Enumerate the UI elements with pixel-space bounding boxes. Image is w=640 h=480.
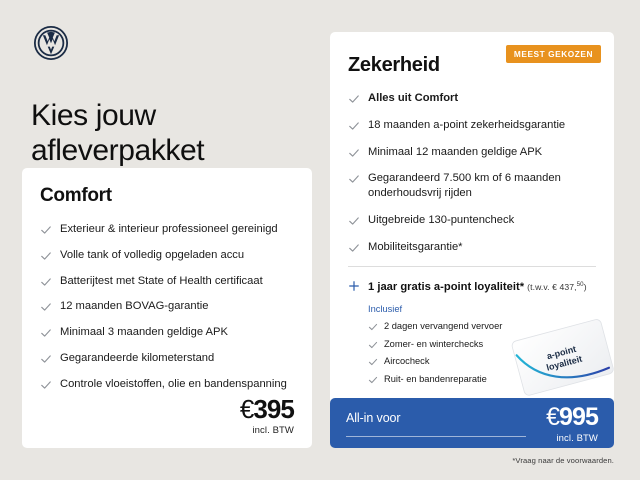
- included-items-list: 2 dagen vervangend vervoer Zomer- en win…: [368, 321, 596, 385]
- list-item: Mobiliteitsgarantie*: [348, 240, 596, 255]
- currency-symbol: €: [240, 394, 253, 424]
- loyalty-title: 1 jaar gratis a-point loyaliteit*: [368, 281, 524, 293]
- comfort-package-card[interactable]: Comfort Exterieur & interieur profession…: [22, 168, 312, 448]
- list-item: Aircocheck: [368, 356, 596, 368]
- list-item: Batterijtest met State of Health certifi…: [40, 274, 294, 289]
- page-title: Kies jouw afleverpakket: [31, 98, 301, 168]
- list-item-label: Mobiliteitsgarantie*: [368, 241, 463, 253]
- section-divider: [348, 266, 596, 267]
- list-item: Exterieur & interieur professioneel gere…: [40, 222, 294, 237]
- all-in-label: All-in voor: [346, 411, 400, 425]
- vw-logo-icon: [33, 25, 69, 61]
- comfort-card-title: Comfort: [40, 185, 294, 207]
- loyalty-included-section: Inclusief 2 dagen vervangend vervoer Zom…: [368, 304, 596, 385]
- list-item-label: Volle tank of volledig opgeladen accu: [60, 249, 244, 261]
- check-icon: [40, 250, 52, 262]
- check-icon: [40, 301, 52, 313]
- comfort-price: €395: [240, 396, 294, 422]
- footnote: *Vraag naar de voorwaarden.: [512, 456, 614, 465]
- zekerheid-feature-list: Alles uit Comfort 18 maanden a-point zek…: [348, 91, 596, 254]
- zekerheid-package-card[interactable]: MEEST GEKOZEN Zekerheid Alles uit Comfor…: [330, 32, 614, 404]
- status-badge: MEEST GEKOZEN: [506, 45, 601, 63]
- check-icon: [348, 242, 360, 254]
- list-item: 12 maanden BOVAG-garantie: [40, 299, 294, 314]
- list-item-label: Minimaal 3 maanden geldige APK: [60, 326, 228, 338]
- check-icon: [348, 147, 360, 159]
- list-item: Gegarandeerd 7.500 km of 6 maanden onder…: [348, 171, 596, 201]
- list-item: Gegarandeerde kilometerstand: [40, 351, 294, 366]
- check-icon: [368, 322, 378, 332]
- comfort-feature-list: Exterieur & interieur professioneel gere…: [40, 222, 294, 391]
- divider: [346, 436, 526, 437]
- loyalty-benefit-row: 1 jaar gratis a-point loyaliteit* (t.w.v…: [348, 280, 596, 295]
- list-item-label: Batterijtest met State of Health certifi…: [60, 275, 263, 287]
- list-item: 18 maanden a-point zekerheidsgarantie: [348, 118, 596, 133]
- list-item: Ruit- en bandenreparatie: [368, 374, 596, 386]
- check-icon: [40, 224, 52, 236]
- all-in-price: €995: [546, 405, 598, 430]
- check-icon: [348, 215, 360, 227]
- list-item: Minimaal 3 maanden geldige APK: [40, 325, 294, 340]
- check-icon: [368, 357, 378, 367]
- price-amount: 995: [559, 403, 598, 431]
- check-icon: [348, 173, 360, 185]
- list-item: Alles uit Comfort: [348, 91, 596, 106]
- all-in-price-block: €995 incl. BTW: [546, 405, 598, 444]
- check-icon: [40, 327, 52, 339]
- list-item-label: 2 dagen vervangend vervoer: [384, 321, 502, 331]
- list-item-label: Uitgebreide 130-puntencheck: [368, 214, 514, 226]
- check-icon: [40, 276, 52, 288]
- list-item-label: Alles uit Comfort: [368, 92, 458, 104]
- page-title-line2: afleverpakket: [31, 133, 301, 168]
- check-icon: [348, 93, 360, 105]
- list-item: Controle vloeistoffen, olie en bandenspa…: [40, 377, 294, 392]
- page-title-line1: Kies jouw: [31, 99, 156, 132]
- list-item: 2 dagen vervangend vervoer: [368, 321, 596, 333]
- list-item-label: Zomer- en winterchecks: [384, 339, 483, 349]
- loyalty-worth: (t.w.v. € 437,50): [527, 282, 587, 292]
- list-item-label: Gegarandeerd 7.500 km of 6 maanden onder…: [368, 172, 561, 199]
- check-icon: [368, 340, 378, 350]
- list-item-label: Exterieur & interieur professioneel gere…: [60, 223, 278, 235]
- list-item: Uitgebreide 130-puntencheck: [348, 213, 596, 228]
- all-in-price-note: incl. BTW: [546, 433, 598, 444]
- price-amount: 395: [253, 394, 294, 424]
- list-item-label: Aircocheck: [384, 356, 429, 366]
- loyalty-worth-prefix: (t.w.v. € 437,: [527, 282, 576, 292]
- list-item: Minimaal 12 maanden geldige APK: [348, 145, 596, 160]
- loyalty-worth-suffix: ): [584, 282, 587, 292]
- list-item-label: Controle vloeistoffen, olie en bandenspa…: [60, 378, 287, 390]
- included-label: Inclusief: [368, 304, 596, 314]
- plus-icon: [348, 280, 360, 292]
- check-icon: [40, 353, 52, 365]
- check-icon: [40, 379, 52, 391]
- check-icon: [368, 375, 378, 385]
- list-item-label: Ruit- en bandenreparatie: [384, 374, 487, 384]
- list-item-label: Minimaal 12 maanden geldige APK: [368, 146, 542, 158]
- all-in-price-bar[interactable]: All-in voor €995 incl. BTW: [330, 398, 614, 448]
- check-icon: [348, 120, 360, 132]
- list-item: Volle tank of volledig opgeladen accu: [40, 248, 294, 263]
- list-item: Zomer- en winterchecks: [368, 339, 596, 351]
- list-item-label: 18 maanden a-point zekerheidsgarantie: [368, 119, 565, 131]
- comfort-price-note: incl. BTW: [240, 425, 294, 436]
- currency-symbol: €: [546, 403, 559, 431]
- comfort-price-block: €395 incl. BTW: [240, 396, 294, 436]
- list-item-label: Gegarandeerde kilometerstand: [60, 352, 214, 364]
- promo-page: Kies jouw afleverpakket Comfort Exterieu…: [0, 0, 640, 480]
- loyalty-worth-cents: 50: [577, 282, 584, 289]
- list-item-label: 12 maanden BOVAG-garantie: [60, 300, 208, 312]
